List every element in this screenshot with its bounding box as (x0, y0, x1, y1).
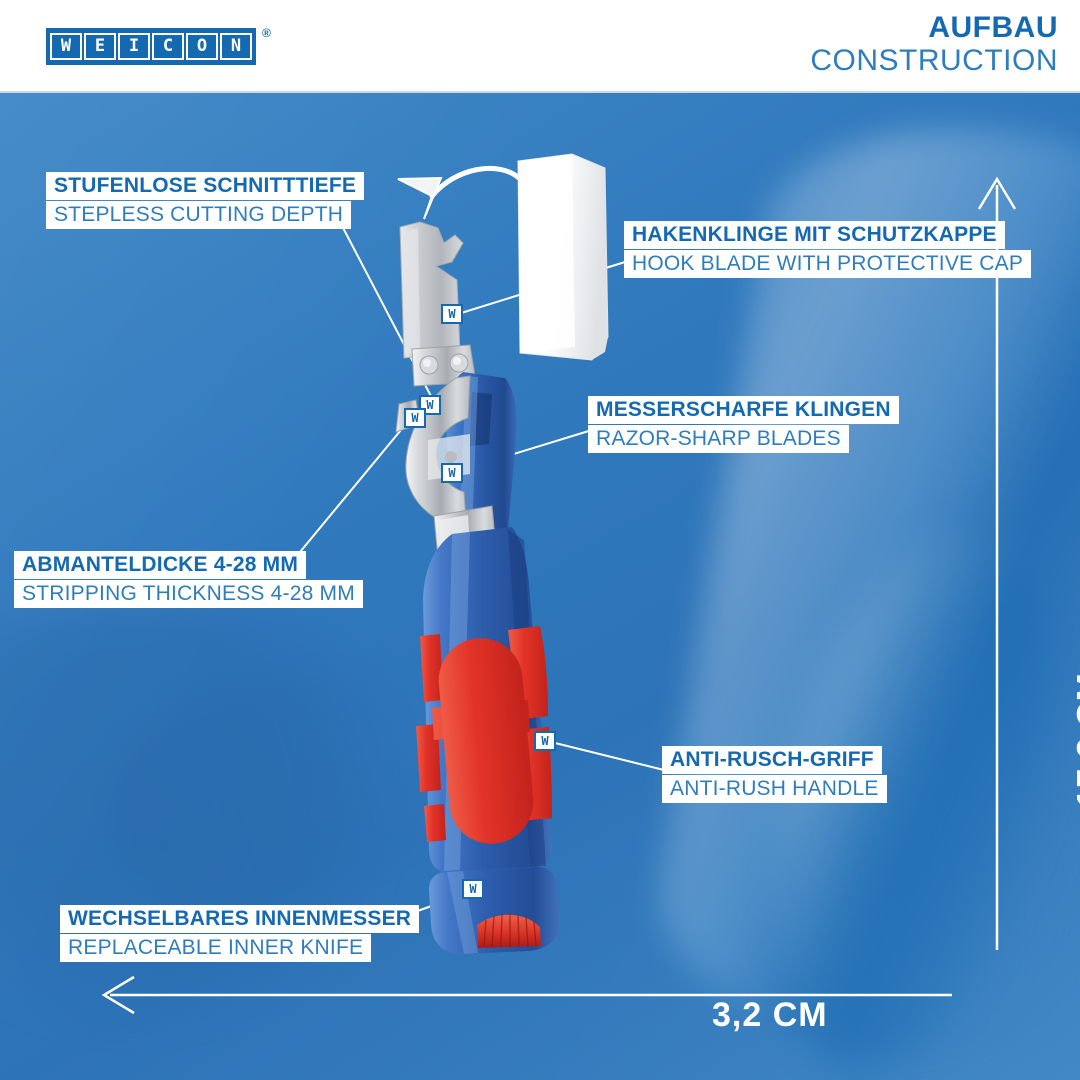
callout-label-de: STUFENLOSE SCHNITTTIEFE (46, 172, 364, 200)
callout-label-en: HOOK BLADE WITH PROTECTIVE CAP (624, 250, 1031, 278)
open-cap-arrow-icon (398, 168, 519, 219)
hook-blade (400, 222, 463, 358)
callout-label-en: RAZOR-SHARP BLADES (588, 425, 849, 453)
callout-anti-rush-handle[interactable]: ANTI-RUSCH-GRIFF ANTI-RUSH HANDLE (662, 746, 887, 803)
callout-stepless-cutting-depth[interactable]: STUFENLOSE SCHNITTTIEFE STEPLESS CUTTING… (46, 172, 364, 229)
weicon-mark-icon: W (541, 735, 548, 747)
callout-hook-blade-protective-cap[interactable]: HAKENKLINGE MIT SCHUTZKAPPE HOOK BLADE W… (624, 221, 1031, 278)
dimension-arrow-vertical (979, 179, 1015, 950)
protective-cap (518, 154, 608, 360)
callout-label-en: STRIPPING THICKNESS 4-28 MM (14, 580, 363, 608)
weicon-mark-icon: W (448, 467, 455, 479)
weicon-mark-icon: W (448, 308, 455, 320)
weicon-mark-icon: W (426, 399, 433, 411)
callout-stripping-thickness[interactable]: ABMANTELDICKE 4-28 MM STRIPPING THICKNES… (14, 551, 363, 608)
weicon-mark-icon: W (411, 412, 418, 424)
callout-label-de: ABMANTELDICKE 4-28 MM (14, 551, 306, 579)
weicon-mark-icon: W (469, 883, 476, 895)
callout-marker-razor-blades[interactable]: W (441, 463, 463, 483)
infographic-page: W E I C O N ® AUFBAU CONSTRUCTION (0, 0, 1080, 1080)
callout-marker-anti-rush-handle[interactable]: W (534, 731, 556, 751)
dimension-height-label: 17,3 CM (1070, 672, 1080, 808)
callout-marker-inner-knife[interactable]: W (462, 879, 484, 899)
callout-label-en: REPLACEABLE INNER KNIFE (60, 934, 371, 962)
callout-label-de: MESSERSCHARFE KLINGEN (588, 396, 899, 424)
callout-label-de: ANTI-RUSCH-GRIFF (662, 746, 882, 774)
callout-label-de: WECHSELBARES INNENMESSER (60, 905, 419, 933)
callout-marker-stripping-thickness[interactable]: W (404, 408, 426, 428)
callout-label-en: ANTI-RUSH HANDLE (662, 775, 887, 803)
dimension-width-label: 3,2 CM (712, 996, 828, 1035)
callout-label-en: STEPLESS CUTTING DEPTH (46, 201, 351, 229)
callout-razor-sharp-blades[interactable]: MESSERSCHARFE KLINGEN RAZOR-SHARP BLADES (588, 396, 899, 453)
callout-label-de: HAKENKLINGE MIT SCHUTZKAPPE (624, 221, 1005, 249)
callout-replaceable-inner-knife[interactable]: WECHSELBARES INNENMESSER REPLACEABLE INN… (60, 905, 419, 962)
callout-marker-hook-blade[interactable]: W (441, 304, 463, 324)
